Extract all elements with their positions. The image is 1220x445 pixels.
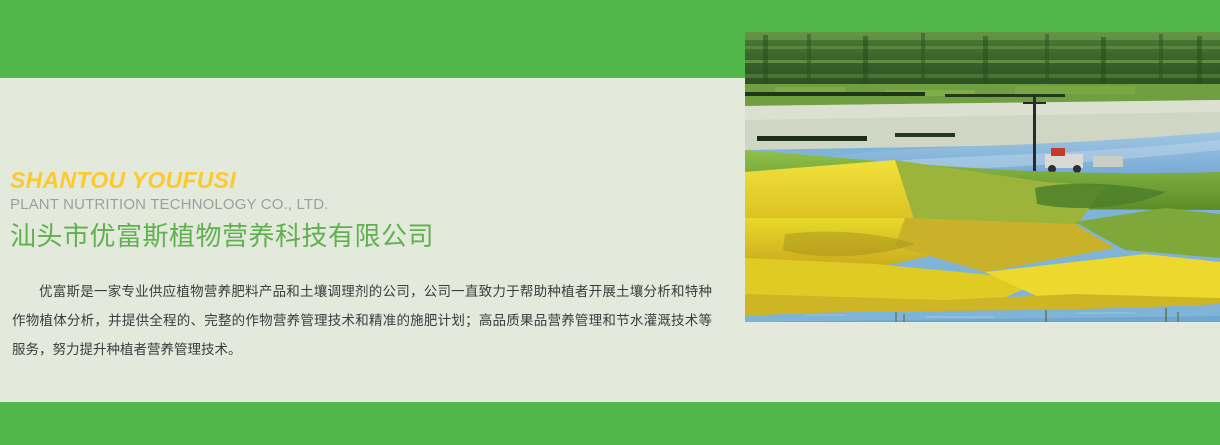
hero-photo-illustration bbox=[745, 32, 1220, 322]
brand-name-english: SHANTOU YOUFUSI bbox=[10, 166, 710, 194]
company-intro-paragraph: 优富斯是一家专业供应植物营养肥料产品和土壤调理剂的公司，公司一直致力于帮助种植者… bbox=[12, 278, 712, 365]
footer-green-bar bbox=[0, 402, 1220, 445]
brand-block: SHANTOU YOUFUSI PLANT NUTRITION TECHNOLO… bbox=[10, 166, 710, 254]
page-root: SHANTOU YOUFUSI PLANT NUTRITION TECHNOLO… bbox=[0, 0, 1220, 445]
brand-tagline-english: PLANT NUTRITION TECHNOLOGY CO., LTD. bbox=[10, 194, 710, 216]
brand-name-chinese: 汕头市优富斯植物营养科技有限公司 bbox=[10, 220, 710, 254]
hero-photo bbox=[745, 32, 1220, 322]
